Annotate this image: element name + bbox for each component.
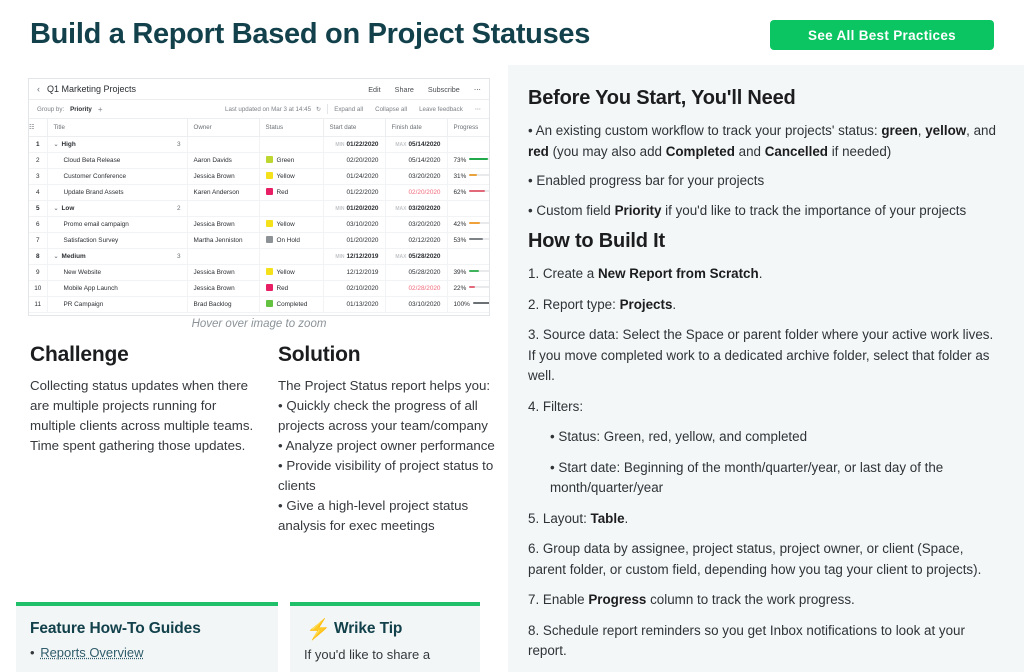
subscribe-action[interactable]: Subscribe [428, 85, 460, 94]
cell-owner[interactable]: Martha Jenniston [187, 232, 259, 248]
emphasis-text: red [528, 144, 549, 159]
table-group-row[interactable]: 1⌄High3MIN01/22/2020MAX05/14/2020 [29, 136, 490, 152]
solution-bullets: • Quickly check the progress of all proj… [278, 396, 500, 536]
cell-progress: 39% [447, 264, 490, 280]
cell-owner[interactable]: Brad Backlog [187, 296, 259, 312]
cell-start-date[interactable]: 01/22/2020 [323, 184, 385, 200]
cell-title[interactable]: ⌄Low2 [47, 200, 187, 216]
emphasis-text: yellow [925, 123, 966, 138]
build-step-7: 6. Group data by assignee, project statu… [528, 539, 996, 580]
solution-bullet-0: • Quickly check the progress of all proj… [278, 396, 500, 436]
cell-progress: 53% [447, 232, 490, 248]
cell-finish-date[interactable]: MAX03/20/2020 [385, 200, 447, 216]
row-number: 3 [29, 168, 47, 184]
lightning-bolt-icon: ⚡ [306, 620, 331, 640]
column-header-finish-date[interactable]: Finish date [385, 119, 447, 136]
cell-owner[interactable]: Jessica Brown [187, 216, 259, 232]
bullet-mark: • [30, 645, 35, 660]
progress-value: 53% [454, 237, 467, 244]
cell-status[interactable]: Yellow [259, 264, 323, 280]
row-number: 5 [29, 200, 47, 216]
cell-progress: 42% [447, 216, 490, 232]
plus-icon[interactable]: + [98, 105, 103, 114]
progress-bar [469, 238, 490, 240]
screenshot-topbar: ‹ Q1 Marketing Projects Edit Share Subsc… [29, 79, 489, 100]
min-label: MIN [335, 142, 344, 148]
edit-action[interactable]: Edit [368, 85, 380, 94]
max-label: MAX [395, 254, 406, 260]
table-group-row[interactable]: 8⌄Medium3MIN12/12/2019MAX05/28/2020 [29, 248, 490, 264]
report-table-body: 1⌄High3MIN01/22/2020MAX05/14/20202Cloud … [29, 136, 490, 312]
row-number: 7 [29, 232, 47, 248]
before-you-start-bullets: • An existing custom workflow to track y… [528, 121, 996, 221]
progress-value: 22% [454, 285, 467, 292]
cell-owner[interactable]: Aaron Davids [187, 152, 259, 168]
page-title: Build a Report Based on Project Statuses [30, 18, 590, 51]
cell-start-date[interactable]: 02/10/2020 [323, 280, 385, 296]
status-swatch [266, 268, 273, 275]
cell-finish-date[interactable]: 05/14/2020 [385, 152, 447, 168]
cell-start-date[interactable]: 02/20/2020 [323, 152, 385, 168]
cell-title[interactable]: Satisfaction Survey [47, 232, 187, 248]
text-run: and [735, 144, 765, 159]
status-swatch [266, 220, 273, 227]
cell-progress: 73% [447, 152, 490, 168]
progress-bar [469, 286, 490, 288]
guides-heading: Feature How-To Guides [30, 620, 278, 638]
cell-owner[interactable] [187, 136, 259, 152]
progress-bar [469, 270, 490, 272]
cell-status[interactable] [259, 200, 323, 216]
table-row[interactable]: 2Cloud Beta ReleaseAaron DavidsGreen02/2… [29, 152, 490, 168]
right-column: Before You Start, You'll Need • An exist… [508, 65, 1024, 672]
table-row[interactable]: 4Update Brand AssetsKaren AndersonRed01/… [29, 184, 490, 200]
build-step-4: • Status: Green, red, yellow, and comple… [550, 427, 996, 448]
group-by-value[interactable]: Priority [70, 106, 92, 113]
finish-date-value: 05/14/2020 [409, 157, 441, 164]
share-action[interactable]: Share [395, 85, 414, 94]
status-swatch [266, 172, 273, 179]
text-run: 1. Create a [528, 266, 598, 281]
cell-owner[interactable]: Jessica Brown [187, 168, 259, 184]
ellipsis-icon[interactable]: ⋯ [474, 85, 481, 94]
wrike-tip-card: ⚡ Wrike Tip If you'd like to share a [290, 602, 480, 672]
cell-progress: 31% [447, 168, 490, 184]
cell-progress [447, 136, 490, 152]
cell-title[interactable]: Mobile App Launch [47, 280, 187, 296]
row-number: 1 [29, 136, 47, 152]
progress-bar [469, 222, 490, 224]
before-bullet-2: • Custom field Priority if you'd like to… [528, 201, 996, 222]
cell-status[interactable] [259, 248, 323, 264]
max-label: MAX [395, 206, 406, 212]
max-label: MAX [395, 142, 406, 148]
cell-start-date[interactable]: MIN01/22/2020 [323, 136, 385, 152]
cell-status[interactable]: Yellow [259, 168, 323, 184]
cell-owner[interactable] [187, 248, 259, 264]
build-step-8: 7. Enable Progress column to track the w… [528, 590, 996, 611]
cell-title[interactable]: Customer Conference [47, 168, 187, 184]
row-number: 4 [29, 184, 47, 200]
emphasis-text: green [881, 123, 917, 138]
refresh-icon[interactable]: ↻ [316, 106, 321, 113]
finish-date-value: 03/20/2020 [409, 205, 441, 212]
cell-title[interactable]: Update Brand Assets [47, 184, 187, 200]
toolbar-ellipsis-icon[interactable]: ⋯ [475, 106, 481, 113]
cell-progress: 62% [447, 184, 490, 200]
leave-feedback-button[interactable]: Leave feedback [419, 106, 463, 113]
text-run: • An existing custom workflow to track y… [528, 123, 881, 138]
finish-date-value: 05/28/2020 [409, 253, 441, 260]
cell-start-date[interactable]: 01/20/2020 [323, 232, 385, 248]
cell-title[interactable]: ⌄Medium3 [47, 248, 187, 264]
cell-owner[interactable] [187, 200, 259, 216]
guides-list-item: • Reports Overview [30, 645, 278, 660]
cell-status[interactable]: Yellow [259, 216, 323, 232]
cell-start-date[interactable]: 12/12/2019 [323, 264, 385, 280]
min-label: MIN [335, 254, 344, 260]
cell-title[interactable]: Cloud Beta Release [47, 152, 187, 168]
chevron-down-icon[interactable]: ⌄ [54, 254, 59, 260]
cell-finish-date[interactable]: 03/20/2020 [385, 168, 447, 184]
collapse-all-button[interactable]: Collapse all [375, 106, 407, 113]
before-bullet-1: • Enabled progress bar for your projects [528, 171, 996, 192]
text-run: if you'd like to track the importance of… [661, 203, 966, 218]
build-step-6: 5. Layout: Table. [528, 509, 996, 530]
cell-status[interactable]: On Hold [259, 232, 323, 248]
cell-finish-date[interactable]: MAX05/28/2020 [385, 248, 447, 264]
toolbar-divider [327, 104, 328, 114]
cell-owner[interactable]: Jessica Brown [187, 280, 259, 296]
row-number: 11 [29, 296, 47, 312]
status-swatch [266, 284, 273, 291]
solution-bullet-2: • Provide visibility of project status t… [278, 456, 500, 496]
left-column: ‹ Q1 Marketing Projects Edit Share Subsc… [0, 65, 508, 672]
column-header-progress[interactable]: Progress [447, 119, 490, 136]
text-run: , and [966, 123, 996, 138]
page-header: Build a Report Based on Project Statuses… [0, 0, 1024, 65]
build-step-0: 1. Create a New Report from Scratch. [528, 264, 996, 285]
cell-finish-date[interactable]: 02/20/2020 [385, 184, 447, 200]
row-number: 2 [29, 152, 47, 168]
emphasis-text: Table [591, 511, 625, 526]
row-number: 6 [29, 216, 47, 232]
build-step-5: • Start date: Beginning of the month/qua… [550, 458, 996, 499]
column-header-start-date[interactable]: Start date [323, 119, 385, 136]
solution-bullet-1: • Analyze project owner performance [278, 436, 500, 456]
cell-start-date[interactable]: 01/13/2020 [323, 296, 385, 312]
finish-date-value: 02/12/2020 [409, 237, 441, 244]
solution-heading: Solution [278, 343, 500, 367]
cell-status[interactable]: Red [259, 280, 323, 296]
column-header-title[interactable]: Title [47, 119, 187, 136]
emphasis-text: New Report from Scratch [598, 266, 759, 281]
status-swatch [266, 236, 273, 243]
cell-owner[interactable]: Jessica Brown [187, 264, 259, 280]
cell-status[interactable] [259, 136, 323, 152]
bottom-cards: Feature How-To Guides • Reports Overview… [0, 602, 508, 672]
text-run: . [672, 297, 676, 312]
cell-finish-date[interactable]: 02/12/2020 [385, 232, 447, 248]
cell-owner[interactable]: Karen Anderson [187, 184, 259, 200]
see-all-best-practices-button[interactable]: See All Best Practices [770, 20, 994, 50]
chevron-left-icon[interactable]: ‹ [37, 84, 40, 94]
progress-bar [469, 158, 490, 160]
cell-finish-date[interactable]: MAX05/14/2020 [385, 136, 447, 152]
table-header-row: ☷ Title Owner Status Start date Finish d… [29, 119, 490, 136]
cell-progress [447, 200, 490, 216]
finish-date-value: 03/20/2020 [409, 221, 441, 228]
wrike-tip-body: If you'd like to share a [304, 645, 480, 664]
feature-how-to-guides-card: Feature How-To Guides • Reports Overview [16, 602, 278, 672]
finish-date-value: 03/20/2020 [409, 173, 441, 180]
table-row[interactable]: 9New WebsiteJessica BrownYellow12/12/201… [29, 264, 490, 280]
table-row[interactable]: 6Promo email campaignJessica BrownYellow… [29, 216, 490, 232]
cell-finish-date[interactable]: 05/28/2020 [385, 264, 447, 280]
cell-start-date[interactable]: MIN12/12/2019 [323, 248, 385, 264]
screenshot-report-title: Q1 Marketing Projects [47, 84, 136, 94]
last-updated-text: Last updated on Mar 3 at 14:45 [225, 106, 311, 113]
finish-date-value: 05/28/2020 [409, 269, 441, 276]
text-run: . [625, 511, 629, 526]
emphasis-text: Projects [620, 297, 673, 312]
group-count: 3 [177, 253, 181, 260]
row-number: 8 [29, 248, 47, 264]
cell-finish-date[interactable]: 03/20/2020 [385, 216, 447, 232]
cell-finish-date[interactable]: 03/10/2020 [385, 296, 447, 312]
table-row[interactable]: 3Customer ConferenceJessica BrownYellow0… [29, 168, 490, 184]
hover-zoom-caption: Hover over image to zoom [28, 318, 490, 330]
progress-bar [469, 174, 490, 176]
solution-bullet-3: • Give a high-level project status analy… [278, 496, 500, 536]
cell-title[interactable]: PR Campaign [47, 296, 187, 312]
emphasis-text: Cancelled [765, 144, 828, 159]
cell-title[interactable]: ⌄High3 [47, 136, 187, 152]
progress-bar [469, 190, 490, 192]
row-number: 9 [29, 264, 47, 280]
product-screenshot[interactable]: ‹ Q1 Marketing Projects Edit Share Subsc… [28, 78, 490, 316]
text-run: • Custom field [528, 203, 615, 218]
group-count: 2 [177, 205, 181, 212]
table-group-row[interactable]: 5⌄Low2MIN01/20/2020MAX03/20/2020 [29, 200, 490, 216]
build-step-1: 2. Report type: Projects. [528, 295, 996, 316]
cell-title[interactable]: Promo email campaign [47, 216, 187, 232]
cell-progress: 22% [447, 280, 490, 296]
solution-intro: The Project Status report helps you: [278, 376, 500, 396]
status-swatch [266, 156, 273, 163]
status-swatch [266, 188, 273, 195]
reports-overview-link[interactable]: Reports Overview [40, 645, 143, 660]
table-row[interactable]: 11PR CampaignBrad BacklogCompleted01/13/… [29, 296, 490, 312]
screenshot-toolbar: Group by: Priority + Last updated on Mar… [29, 100, 489, 119]
min-label: MIN [335, 206, 344, 212]
before-you-start-heading: Before You Start, You'll Need [528, 87, 996, 110]
group-count: 3 [177, 141, 181, 148]
finish-date-value: 02/28/2020 [409, 285, 441, 292]
column-header-status[interactable]: Status [259, 119, 323, 136]
progress-bar [473, 302, 490, 304]
build-step-2: 3. Source data: Select the Space or pare… [528, 325, 996, 387]
before-bullet-0: • An existing custom workflow to track y… [528, 121, 996, 162]
build-step-9: 8. Schedule report reminders so you get … [528, 621, 996, 662]
finish-date-value: 05/14/2020 [409, 141, 441, 148]
progress-value: 73% [454, 157, 467, 164]
solution-section: Solution The Project Status report helps… [278, 343, 500, 536]
finish-date-value: 02/20/2020 [409, 189, 441, 196]
text-run: . [759, 266, 763, 281]
cell-status[interactable]: Green [259, 152, 323, 168]
table-row[interactable]: 7Satisfaction SurveyMartha JennistonOn H… [29, 232, 490, 248]
cell-finish-date[interactable]: 02/28/2020 [385, 280, 447, 296]
challenge-section: Challenge Collecting status updates when… [30, 343, 258, 456]
how-to-build-it-heading: How to Build It [528, 230, 996, 253]
cell-progress [447, 248, 490, 264]
emphasis-text: Completed [666, 144, 735, 159]
text-run: 2. Report type: [528, 297, 620, 312]
emphasis-text: Priority [615, 203, 662, 218]
progress-value: 62% [454, 189, 467, 196]
progress-value: 42% [454, 221, 467, 228]
cell-start-date[interactable]: 03/10/2020 [323, 216, 385, 232]
challenge-heading: Challenge [30, 343, 258, 367]
chevron-down-icon[interactable]: ⌄ [54, 206, 59, 212]
build-step-3: 4. Filters: [528, 397, 996, 418]
cell-start-date[interactable]: MIN01/20/2020 [323, 200, 385, 216]
row-number: 10 [29, 280, 47, 296]
report-table: ☷ Title Owner Status Start date Finish d… [29, 119, 490, 313]
cell-start-date[interactable]: 01/24/2020 [323, 168, 385, 184]
cell-status[interactable]: Completed [259, 296, 323, 312]
text-run: column to track the work progress. [646, 592, 854, 607]
how-to-build-steps: 1. Create a New Report from Scratch.2. R… [528, 264, 996, 662]
column-settings-icon[interactable]: ☷ [29, 119, 47, 136]
text-run: 5. Layout: [528, 511, 591, 526]
page-root: Build a Report Based on Project Statuses… [0, 0, 1024, 672]
status-swatch [266, 300, 273, 307]
cell-status[interactable]: Red [259, 184, 323, 200]
table-row[interactable]: 10Mobile App LaunchJessica BrownRed02/10… [29, 280, 490, 296]
expand-all-button[interactable]: Expand all [334, 106, 363, 113]
cell-title[interactable]: New Website [47, 264, 187, 280]
emphasis-text: Progress [588, 592, 646, 607]
finish-date-value: 03/10/2020 [409, 301, 441, 308]
text-run: if needed) [828, 144, 891, 159]
text-run: 7. Enable [528, 592, 588, 607]
progress-value: 39% [454, 269, 467, 276]
group-by-label: Group by: [37, 106, 64, 113]
challenge-body: Collecting status updates when there are… [30, 376, 258, 456]
chevron-down-icon[interactable]: ⌄ [54, 142, 59, 148]
text-run: (you may also add [549, 144, 666, 159]
cell-progress: 100% [447, 296, 490, 312]
progress-value: 31% [454, 173, 467, 180]
wrike-tip-heading: Wrike Tip [334, 620, 480, 638]
column-header-owner[interactable]: Owner [187, 119, 259, 136]
progress-value: 100% [454, 301, 470, 308]
